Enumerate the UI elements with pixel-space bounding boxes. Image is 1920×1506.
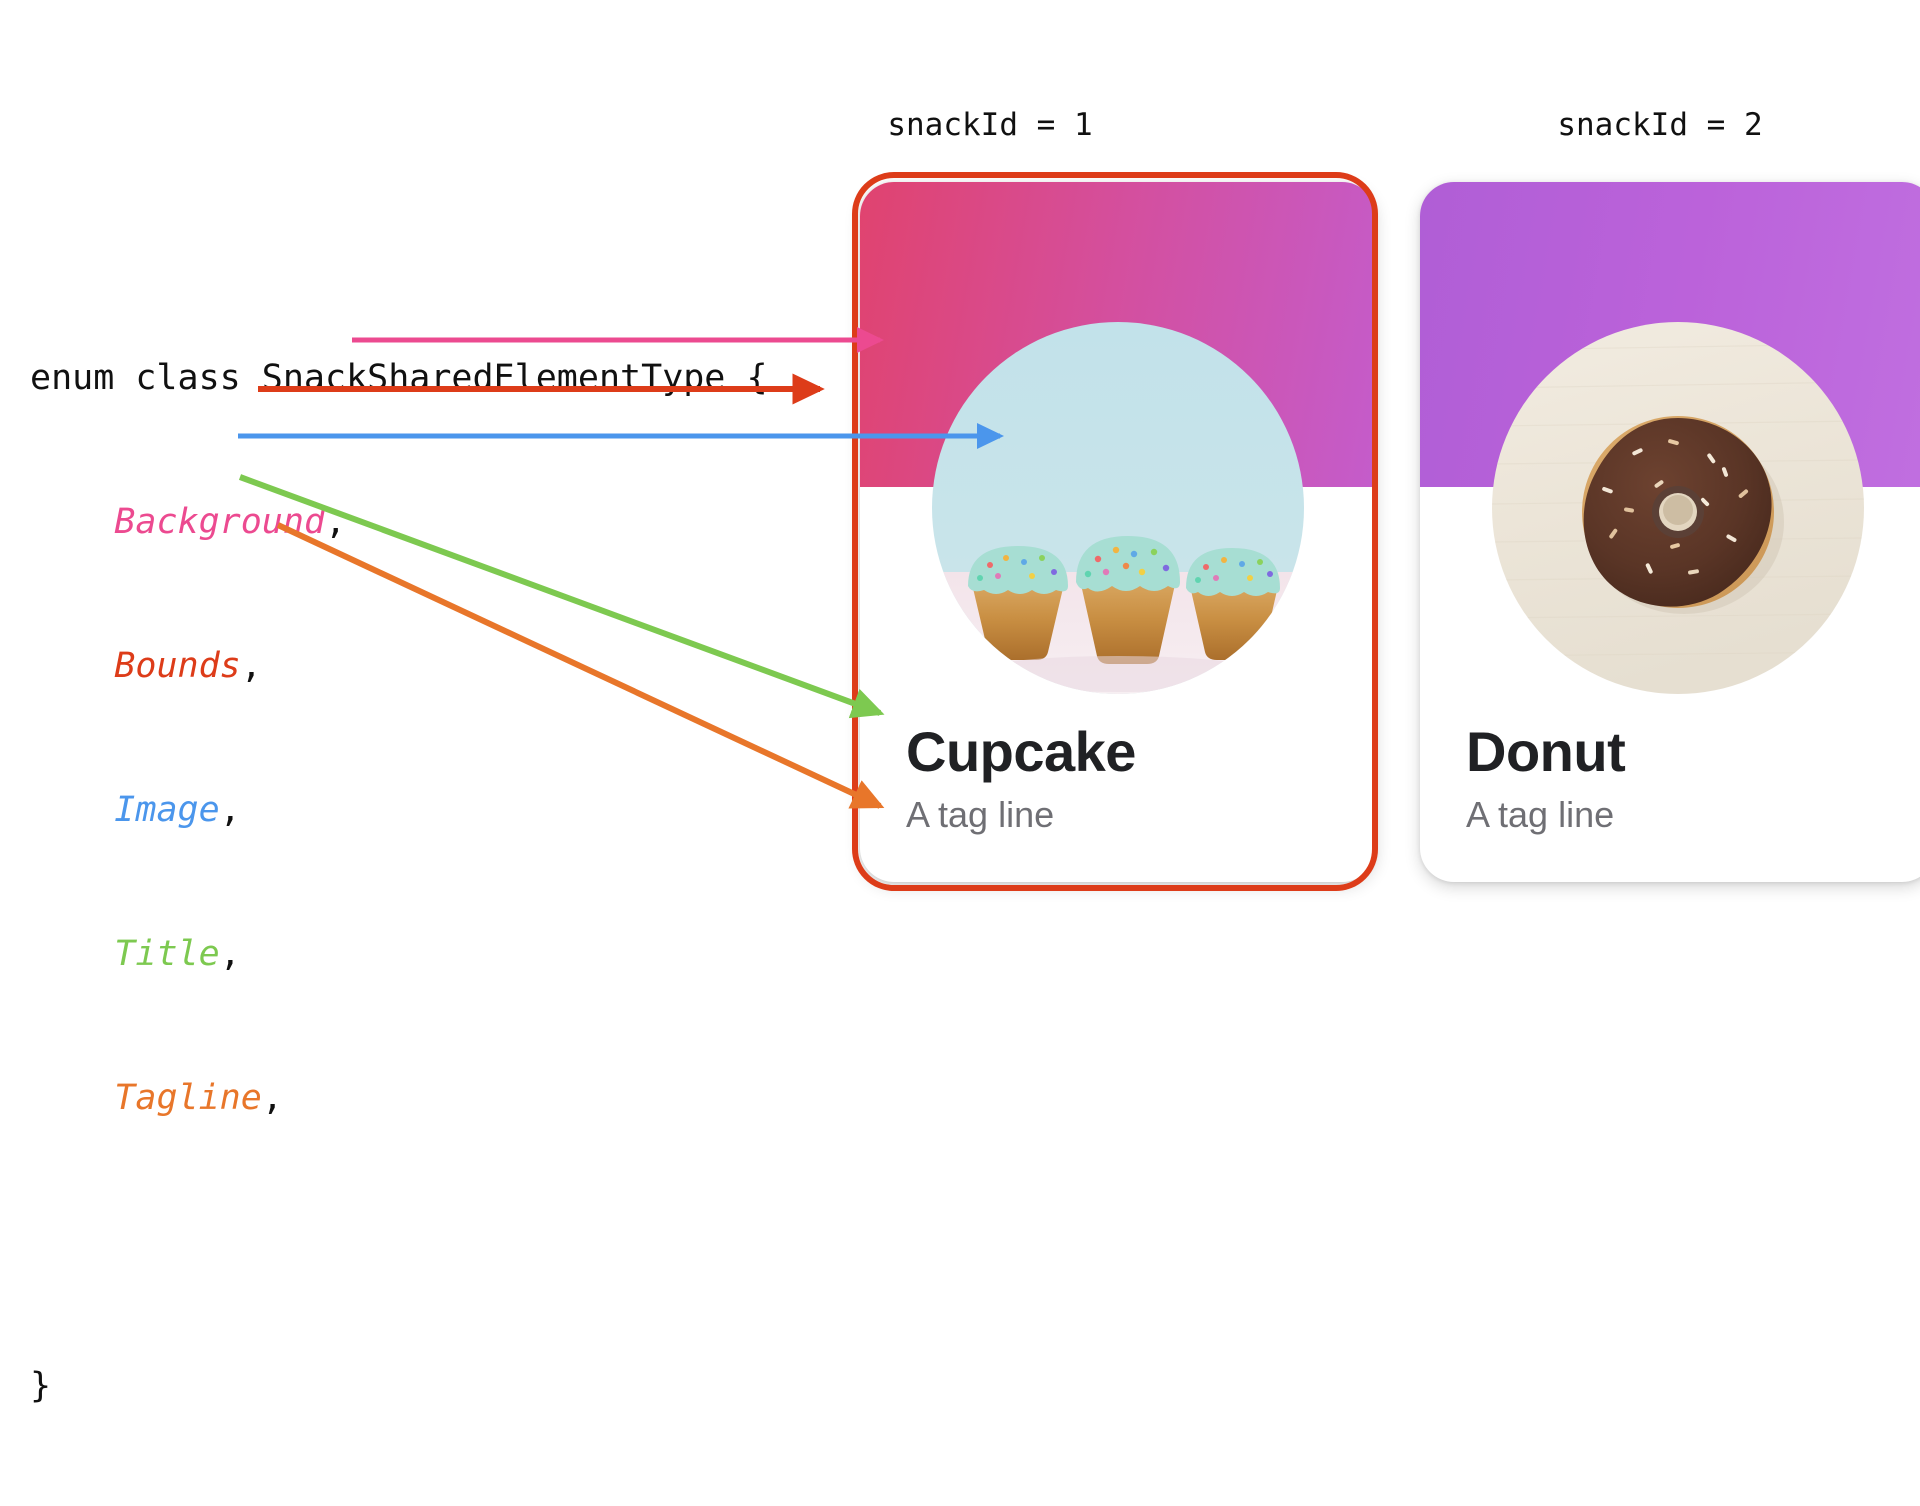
snack-card-donut[interactable]: Donut A tag line <box>1420 182 1920 882</box>
card-title: Cupcake <box>906 722 1346 782</box>
caption-snackid-1: snackId = 1 <box>887 107 1092 143</box>
card-title: Donut <box>1466 722 1906 782</box>
comma-bounds: , <box>241 646 262 686</box>
comma-title: , <box>220 934 241 974</box>
code-line-tagline: Tagline, <box>30 1074 768 1122</box>
code-line-close: } <box>30 1362 768 1410</box>
comma-image: , <box>220 790 241 830</box>
snack-card-cupcake[interactable]: Cupcake A tag line <box>860 182 1376 882</box>
code-line-bounds: Bounds, <box>30 642 768 690</box>
code-line-title: Title, <box>30 930 768 978</box>
card-tagline: A tag line <box>906 794 1346 836</box>
comma-background: , <box>325 502 346 542</box>
donut-photo <box>1492 322 1864 694</box>
card-text-block: Donut A tag line <box>1466 722 1906 836</box>
code-line-background: Background, <box>30 498 768 546</box>
code-line-blank <box>30 1218 768 1266</box>
code-line-image: Image, <box>30 786 768 834</box>
caption-snackid-2: snackId = 2 <box>1557 107 1762 143</box>
card-text-block: Cupcake A tag line <box>906 722 1346 836</box>
enum-value-bounds: Bounds <box>114 646 240 686</box>
diagram-canvas: enum class SnackSharedElementType { Back… <box>0 0 1920 1080</box>
comma-tagline: , <box>262 1078 283 1118</box>
cupcake-photo-svg <box>932 322 1304 694</box>
enum-value-title: Title <box>114 934 219 974</box>
cupcake-photo <box>932 322 1304 694</box>
code-line-declaration: enum class SnackSharedElementType { <box>30 354 768 402</box>
donut-photo-svg <box>1492 322 1864 694</box>
enum-value-tagline: Tagline <box>114 1078 262 1118</box>
code-listing: enum class SnackSharedElementType { Back… <box>30 258 768 1506</box>
card-tagline: A tag line <box>1466 794 1906 836</box>
enum-value-background: Background <box>114 502 325 542</box>
enum-value-image: Image <box>114 790 219 830</box>
